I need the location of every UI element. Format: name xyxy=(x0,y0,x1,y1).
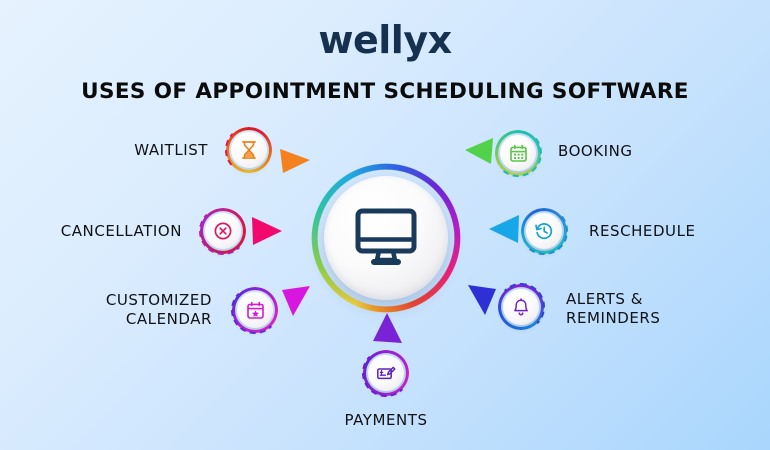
cancellation-disc xyxy=(205,213,241,249)
center-hub xyxy=(311,163,461,313)
page-title: USES OF APPOINTMENT SCHEDULING SOFTWARE xyxy=(0,79,770,104)
node-customized-calendar[interactable] xyxy=(232,287,278,333)
arrow-customized-calendar xyxy=(280,284,312,318)
hourglass-icon xyxy=(240,140,258,160)
reschedule-disc xyxy=(526,213,562,249)
label-alerts-reminders: ALERTS & REMINDERS xyxy=(566,290,746,328)
waitlist-disc xyxy=(231,132,267,168)
node-booking[interactable] xyxy=(495,130,541,176)
node-waitlist[interactable] xyxy=(226,127,272,173)
arrow-cancellation xyxy=(250,215,284,247)
label-booking: BOOKING xyxy=(558,142,738,161)
infographic-canvas: wellyx USES OF APPOINTMENT SCHEDULING SO… xyxy=(0,0,770,450)
calendar-icon xyxy=(509,144,528,163)
brand-logo: wellyx xyxy=(0,18,770,62)
arrow-reschedule xyxy=(487,213,521,245)
desktop-monitor-icon xyxy=(353,207,419,269)
payments-disc xyxy=(368,355,404,391)
node-cancellation[interactable] xyxy=(200,208,246,254)
label-waitlist: WAITLIST xyxy=(40,141,208,160)
customized-calendar-disc xyxy=(237,292,273,328)
node-payments[interactable] xyxy=(363,350,409,396)
booking-disc xyxy=(500,135,536,171)
label-cancellation: CANCELLATION xyxy=(10,222,182,241)
calendar-star-icon xyxy=(246,301,265,320)
label-reschedule: RESCHEDULE xyxy=(589,222,769,241)
node-reschedule[interactable] xyxy=(521,208,567,254)
clock-history-icon xyxy=(534,221,554,241)
arrow-alerts-reminders xyxy=(466,283,498,317)
cheque-pen-icon xyxy=(376,364,396,382)
label-customized-calendar: CUSTOMIZED CALENDAR xyxy=(44,291,212,329)
arrow-waitlist xyxy=(278,146,312,176)
label-payments: PAYMENTS xyxy=(306,411,466,430)
arrow-payments xyxy=(371,311,403,345)
arrow-booking xyxy=(463,136,495,168)
bell-icon xyxy=(512,298,530,317)
node-alerts-reminders[interactable] xyxy=(498,284,544,330)
alerts-reminders-disc xyxy=(503,289,539,325)
center-disc xyxy=(324,176,448,300)
circle-x-icon xyxy=(213,221,233,241)
